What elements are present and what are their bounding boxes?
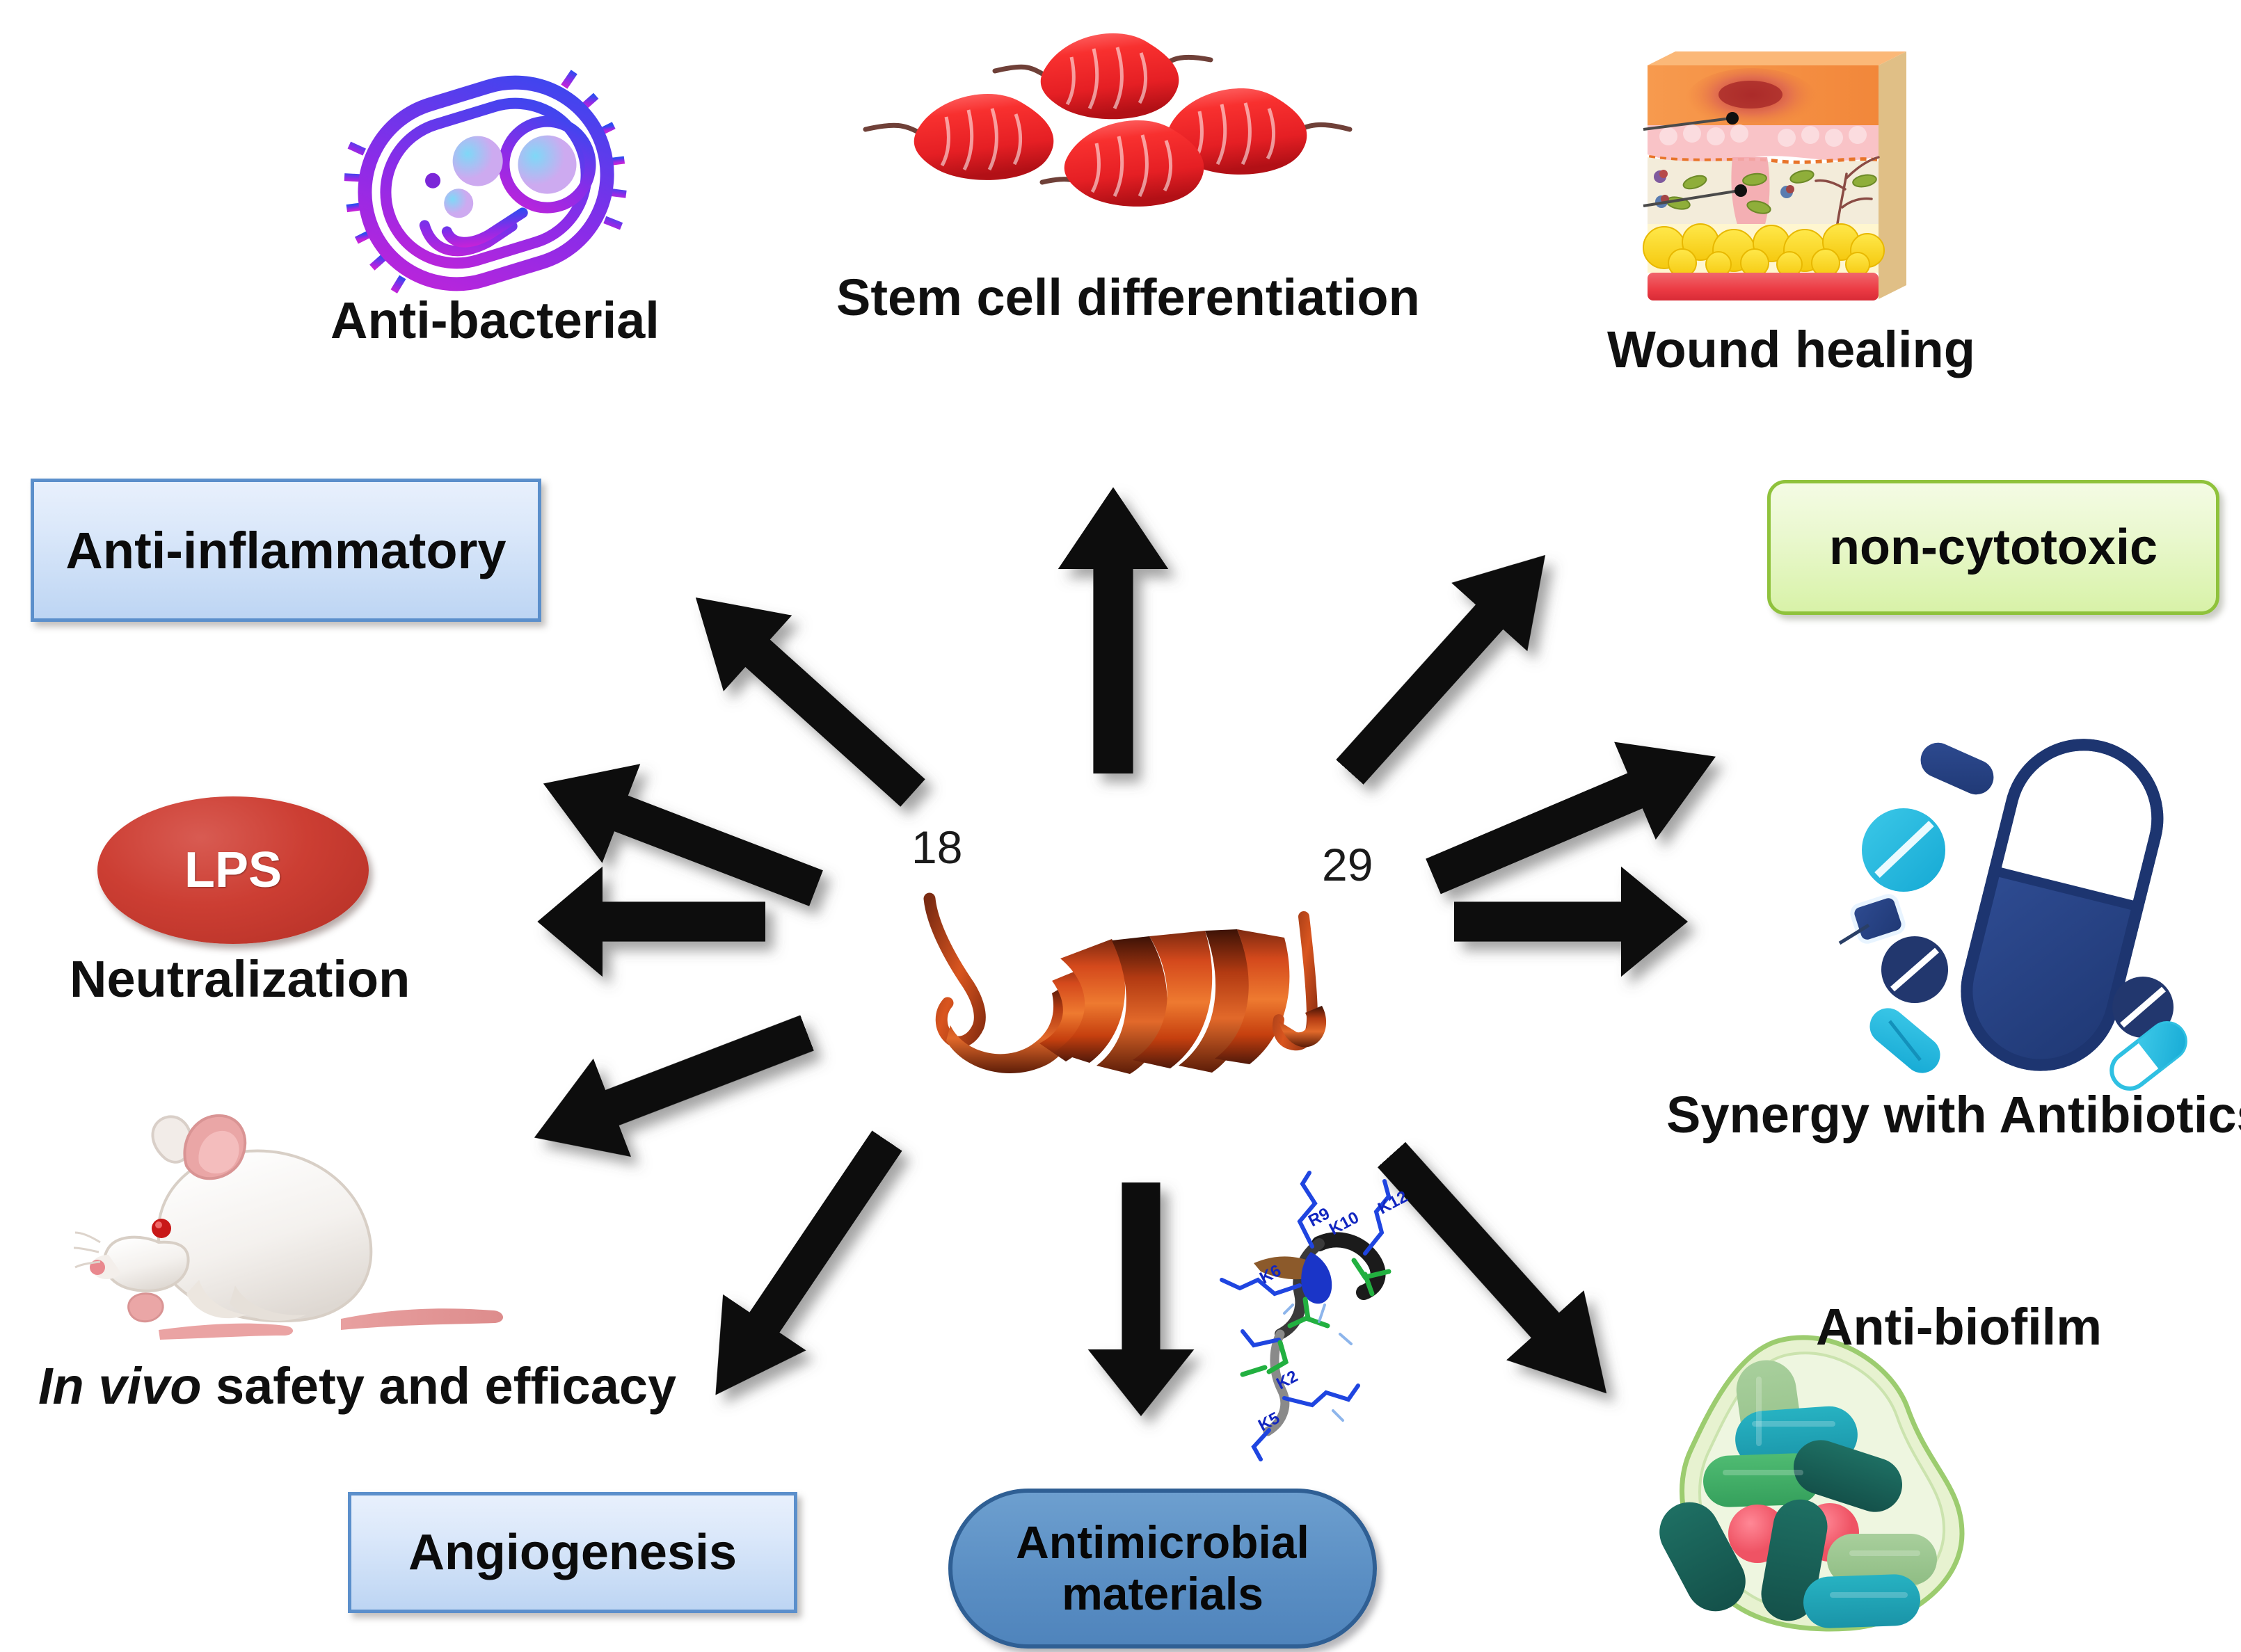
node-wound-healing: Wound healing — [1621, 42, 2011, 355]
peptide-structure-icon: R9 K10 K12 K6 K2 K5 — [1176, 1169, 1454, 1461]
svg-text:K12: K12 — [1375, 1187, 1411, 1219]
anti-bacterial-label: Anti-bacterial — [330, 291, 660, 350]
non-cytotoxic-label: non-cytotoxic — [1829, 519, 2158, 576]
box-antimicrobial-materials[interactable]: Antimicrobial materials — [948, 1489, 1377, 1649]
arrow-left — [537, 867, 765, 977]
lps-ellipse[interactable]: LPS — [97, 796, 369, 944]
spindle-cells-icon — [821, 7, 1378, 209]
bacterium-icon — [348, 70, 640, 292]
lab-mouse-icon — [77, 1085, 564, 1363]
in-vivo-italic-part: In vivo — [38, 1357, 201, 1415]
node-stem-cell: Stem cell differentiation — [821, 7, 1398, 299]
center-helix-group: 18 29 — [891, 821, 1391, 1085]
node-lps-neutralization: LPS Neutralization — [77, 796, 466, 1005]
node-synergy-antibiotics: Synergy with Antibiotics — [1830, 723, 2241, 1141]
synergy-antibiotics-label: Synergy with Antibiotics — [1666, 1085, 2241, 1144]
arrow-right — [1454, 867, 1688, 977]
skin-cross-section-icon — [1628, 42, 1927, 320]
in-vivo-rest-part: safety and efficacy — [201, 1357, 676, 1415]
antimicrobial-materials-line1: Antimicrobial — [1016, 1517, 1309, 1569]
arrow-up-right — [1412, 707, 1737, 925]
in-vivo-label: In vivo safety and efficacy — [38, 1356, 676, 1416]
anti-inflammatory-label: Anti-inflammatory — [65, 521, 506, 580]
helix-residue-start-label: 18 — [911, 821, 962, 874]
arrow-up-left-steep — [662, 559, 947, 831]
biofilm-icon — [1663, 1325, 2011, 1652]
neutralization-label: Neutralization — [70, 949, 410, 1009]
antimicrobial-materials-line2: materials — [1062, 1569, 1263, 1620]
box-anti-inflammatory[interactable]: Anti-inflammatory — [31, 479, 541, 622]
arrow-down-left-steep — [674, 1113, 929, 1423]
anti-biofilm-label: Anti-biofilm — [1816, 1297, 2102, 1356]
box-non-cytotoxic[interactable]: non-cytotoxic — [1767, 480, 2219, 615]
node-anti-biofilm: Anti-biofilm — [1670, 1290, 2101, 1645]
node-in-vivo: In vivo safety and efficacy — [77, 1085, 647, 1433]
stem-cell-label: Stem cell differentiation — [836, 268, 1420, 327]
arrow-up-left — [525, 734, 836, 938]
box-angiogenesis[interactable]: Angiogenesis — [348, 1492, 797, 1613]
node-anti-bacterial: Anti-bacterial — [334, 70, 654, 362]
node-peptide-structure: R9 K10 K12 K6 K2 K5 — [1176, 1169, 1468, 1475]
lps-label: LPS — [184, 842, 282, 899]
diagram-canvas: 18 29 — [0, 0, 2241, 1649]
alpha-helix-icon — [891, 876, 1391, 1085]
arrow-up-right-steep — [1311, 521, 1583, 806]
angiogenesis-label: Angiogenesis — [408, 1524, 737, 1581]
capsule-pills-icon — [1830, 723, 2219, 1085]
wound-healing-label: Wound healing — [1607, 320, 1975, 379]
arrow-up — [1058, 487, 1168, 773]
